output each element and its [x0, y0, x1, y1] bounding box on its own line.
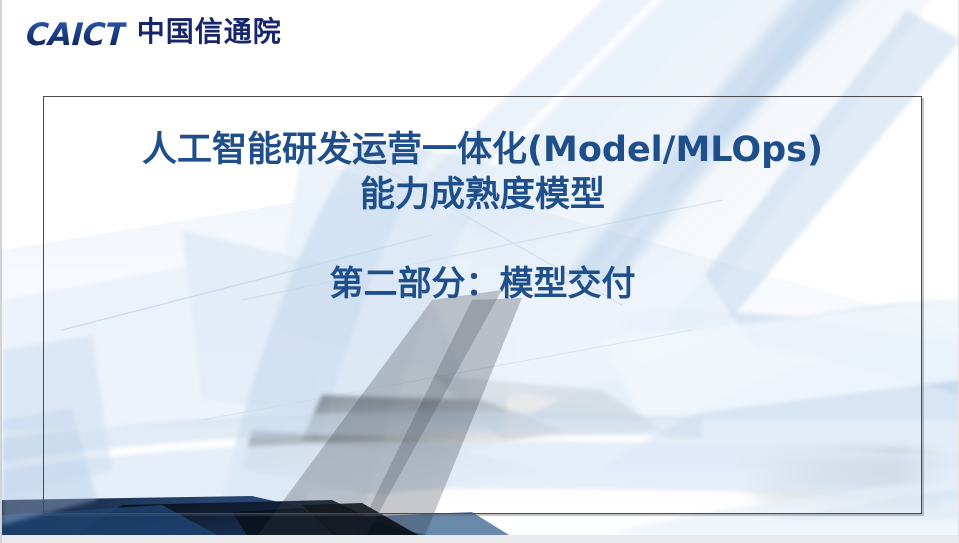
page-title-line-1: 人工智能研发运营一体化(Model/MLOps): [43, 128, 922, 173]
caict-logo-mark: CAICT: [26, 20, 126, 51]
title-block: 人工智能研发运营一体化(Model/MLOps) 能力成熟度模型 第二部分：模型…: [43, 96, 922, 306]
page-subtitle: 第二部分：模型交付: [43, 218, 922, 306]
presentation-slide: CAICT 中国信通院 人工智能研发运营一体化(Model/MLOps) 能力成…: [0, 0, 959, 543]
caict-logo-chinese-text: 中国信通院: [137, 17, 282, 51]
caict-logo: CAICT 中国信通院: [26, 17, 282, 51]
page-title-line-2: 能力成熟度模型: [43, 173, 922, 218]
bottom-gray-strip: [2, 535, 958, 543]
caict-logo-text: CAICT: [25, 20, 126, 51]
